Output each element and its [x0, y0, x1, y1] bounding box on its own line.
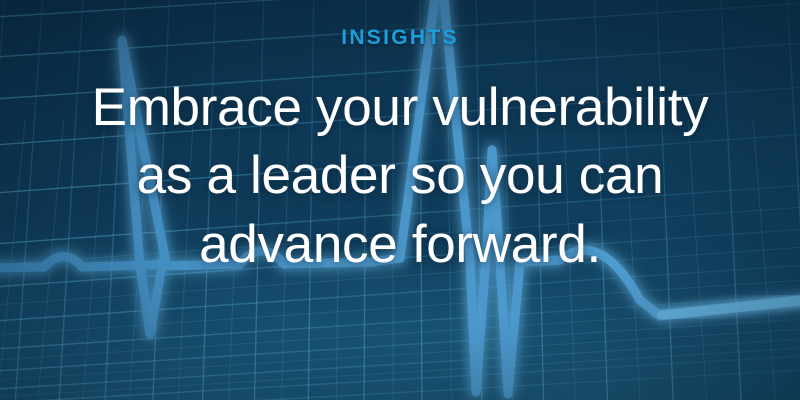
headline: Embrace your vulnerability as a leader s…	[30, 74, 770, 279]
headline-line-3: advance forward.	[30, 211, 770, 279]
insights-quote-card: INSIGHTS Embrace your vulnerability as a…	[0, 0, 800, 400]
eyebrow-label: INSIGHTS	[341, 26, 459, 50]
headline-line-2: as a leader so you can	[30, 142, 770, 210]
card-content: INSIGHTS Embrace your vulnerability as a…	[0, 0, 800, 400]
headline-line-1: Embrace your vulnerability	[30, 74, 770, 142]
